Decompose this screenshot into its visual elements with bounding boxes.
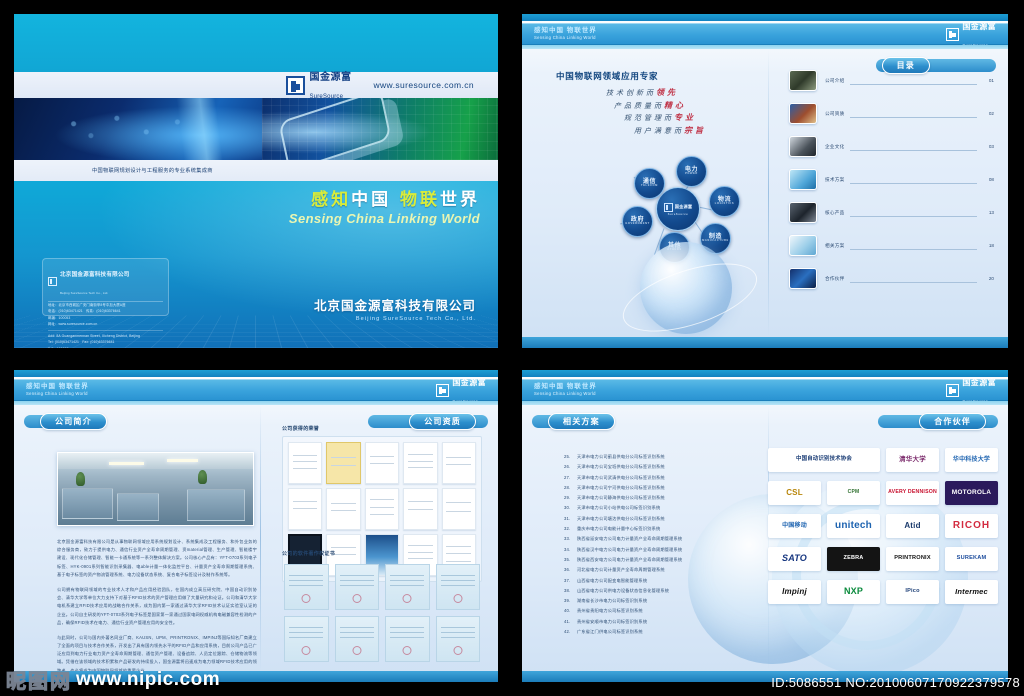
calligraphy-block: 技术创新而领先 产品质量而精心 规范管理而专业 用户满意而宗旨 [606, 86, 756, 136]
bubble-center-suresource[interactable]: 国金源富 SureSource [656, 187, 700, 231]
solution-text: 重庆市电力公司电能计量中心标签识别系统 [577, 526, 660, 531]
brand-name-cn: 国金源富 [309, 72, 351, 83]
contact-en-address-label: Add: [48, 334, 55, 338]
bubble-node-inner: 物流 LOGISTICS [715, 197, 734, 206]
bubble-label-en: LOGISTICS [715, 203, 734, 206]
copyright-cert-thumb[interactable] [436, 564, 481, 610]
solution-item: 31.天津市电力公司塘沽供电分公司标签识别系统 [564, 514, 769, 524]
certificate-thumb[interactable] [442, 488, 476, 530]
tab-company-profile[interactable]: 公司简介 [40, 413, 107, 430]
header-slogan-cn: 感知中国 物联世界 [534, 384, 597, 391]
contents-leader-line [850, 117, 977, 118]
bubble-node-inner: 电力 POWER [685, 167, 698, 176]
partner-logo-china-mobile: 中国移动 [768, 514, 821, 538]
brochure-page-partners: 感知中国 物联世界 Sensing China Linking World 国金… [522, 370, 1008, 682]
suresource-logo-icon [664, 203, 673, 212]
contents-thumbnail [789, 169, 817, 190]
solution-number: 28. [564, 483, 577, 493]
partner-logo-surekam: SUREKAM [945, 547, 998, 571]
solution-number: 26. [564, 462, 577, 472]
bubble-label-en: TELECOM [641, 185, 658, 188]
contact-tel-label: 电话： [48, 309, 58, 313]
header-slogan-en: Sensing China Linking World [534, 392, 597, 396]
contact-divider [48, 330, 163, 331]
page-header-bar: 感知中国 物联世界 Sensing China Linking World 国金… [14, 379, 498, 401]
page-header-underline [14, 401, 498, 405]
cover-subtitle: 中国物联网规划设计与工程服务的专业系统集成商 [92, 167, 213, 174]
certificate-thumb[interactable] [288, 442, 322, 484]
certificate-thumb[interactable] [326, 488, 360, 530]
solution-text: 陕西省延安电力公司电力计量资产全寿命周期管理系统 [577, 536, 682, 541]
contents-leader-line [850, 84, 977, 85]
solution-item: 35.陕西省西安电力公司电力计量资产全寿命周期管理系统 [564, 555, 769, 565]
header-brand-cn: 国金源富 [962, 378, 996, 387]
solution-number: 31. [564, 514, 577, 524]
copyright-cert-thumb[interactable] [284, 616, 329, 662]
copyright-cert-thumb[interactable] [436, 616, 481, 662]
bubble-label-en: MANUFACTURE [702, 240, 729, 243]
contact-fax-value: (010)63376641 [96, 309, 120, 313]
bubble-node-inner: 通信 TELECOM [641, 179, 658, 188]
solution-text: 天津市电力公司静海供电分公司标签识别系统 [577, 495, 665, 500]
solution-number: 29. [564, 493, 577, 503]
contact-en-zip-line: P.C.: 100053 [48, 346, 163, 348]
globe-graphic [640, 242, 732, 334]
contents-page-number: 01 [982, 78, 994, 83]
contents-leader-line [850, 282, 977, 283]
contact-zip-label: 邮编： [48, 316, 58, 320]
brand-website: www.suresource.com.cn [373, 80, 474, 90]
software-copyright-grid [282, 560, 482, 666]
contents-leader-line [850, 249, 977, 250]
page-spine-divider [260, 405, 261, 671]
solution-text: 广东省江门供电公司标签识别系统 [577, 629, 643, 634]
partner-logo-csl: CSL [768, 481, 821, 505]
contents-entry-label: 合作伙伴 [825, 276, 845, 282]
certificate-thumb[interactable] [365, 488, 399, 530]
cover-image-strip [14, 98, 498, 160]
software-copyright-caption: 公司的软件著作权证书 [282, 550, 482, 557]
partner-logo-nxp: NXP [827, 580, 880, 604]
partner-logo-ipico: IPico [886, 580, 939, 604]
contents-entry[interactable]: 公司资质 02 [789, 97, 994, 130]
solution-number: 33. [564, 534, 577, 544]
header-brand-cn: 国金源富 [452, 378, 486, 387]
contact-tel-value: (010)63471421 [58, 309, 82, 313]
bubble-node-telecom[interactable]: 通信 TELECOM [634, 168, 665, 199]
company-name-en: Beijing SureSource Tech Co., Ltd. [314, 316, 476, 322]
suresource-logo-icon [286, 76, 305, 95]
contents-thumbnail [789, 268, 817, 289]
solution-number: 37. [564, 576, 577, 586]
solution-text: 贵州省贵阳电力公司标签识别系统 [577, 608, 643, 613]
photo-cubicle [62, 488, 113, 520]
header-slogan: 感知中国 物联世界 Sensing China Linking World [534, 384, 597, 396]
copyright-cert-thumb[interactable] [335, 616, 380, 662]
photo-plant [76, 472, 85, 486]
contents-page-number: 08 [982, 177, 994, 182]
page-header-underline [522, 45, 1008, 49]
page-spine-divider [768, 49, 769, 337]
bubble-node-inner: 制造 MANUFACTURE [702, 234, 729, 243]
photo-lamp [167, 459, 198, 462]
profile-paragraph: 北京国金源富科技有限公司是从事物联网领域应用系统规划设计、系统集成及工程服务、和… [57, 538, 257, 579]
solution-item: 42.广东省江门供电公司标签识别系统 [564, 627, 769, 637]
partner-logo-huazhong: 华中科技大学 [945, 448, 998, 472]
contents-page-number: 03 [982, 144, 994, 149]
slogan-cn-mark2: 世界 [440, 190, 480, 210]
partner-logo-unitech: unitech [827, 514, 880, 538]
solution-text: 天津市电力公司宁河供电分公司标签识别系统 [577, 485, 665, 490]
cover-artboard: 国金源富 SureSource www.suresource.com.cn 中国… [14, 14, 498, 348]
calligraphy-line: 用户满意而宗旨 [634, 124, 756, 137]
solution-number: 30. [564, 503, 577, 513]
photo-lamp [109, 462, 144, 465]
calligraphy-accent: 宗旨 [684, 125, 706, 135]
bubble-node-power[interactable]: 电力 POWER [676, 156, 707, 187]
contact-company-en: Beijing SureSource Tech Co., Ltd. [60, 291, 108, 295]
contents-entry[interactable]: 合作伙伴 20 [789, 262, 994, 295]
solution-number: 42. [564, 627, 577, 637]
partner-logo-ricoh: RICOH [945, 514, 998, 538]
solution-number: 27. [564, 473, 577, 483]
calligraphy-accent: 精心 [664, 100, 686, 110]
solution-text: 陕西省汉中电力公司电力计量资产全寿命周期管理系统 [577, 547, 682, 552]
page-header-bar: 感知中国 物联世界 Sensing China Linking World 国金… [522, 379, 1008, 401]
contact-fax-label: 传真： [86, 309, 96, 313]
solution-number: 34. [564, 545, 577, 555]
bubble-center-row: 国金源富 [664, 203, 693, 212]
world-map-network-image [14, 98, 262, 160]
contents-entry[interactable]: 相关方案 18 [789, 229, 994, 262]
slogan-cn-part2: 物联 [400, 190, 440, 210]
screenshot-canvas: 国金源富 SureSource www.suresource.com.cn 中国… [0, 0, 1024, 696]
solution-item: 40.贵州省贵阳电力公司标签识别系统 [564, 606, 769, 616]
solution-number: 39. [564, 596, 577, 606]
photo-ceiling [58, 453, 253, 469]
header-slogan: 感知中国 物联世界 Sensing China Linking World [26, 384, 89, 396]
certificate-thumb[interactable] [442, 442, 476, 484]
contents-headline: 中国物联网领域应用专家 [556, 70, 658, 82]
calligraphy-plain: 技术创新而 [606, 89, 656, 97]
nipic-watermark-url: www.nipic.com [76, 669, 220, 691]
nipic-watermark: 昵图网 www.nipic.com [6, 665, 220, 694]
partner-logo-avery-dennison: AVERY DENNISON [886, 481, 939, 505]
solution-number: 41. [564, 617, 577, 627]
contents-entry[interactable]: 公司介绍 01 [789, 64, 994, 97]
contact-en-zip-value: 100053 [57, 347, 69, 348]
header-slogan-cn: 感知中国 物联世界 [534, 28, 597, 35]
contents-leader-line [850, 216, 977, 217]
certificate-thumb[interactable] [288, 488, 322, 530]
solution-number: 36. [564, 565, 577, 575]
copyright-cert-thumb[interactable] [335, 564, 380, 610]
contents-entry-label: 核心产品 [825, 210, 845, 216]
solution-text: 湖南省长沙市电力公司标签识别系统 [577, 598, 647, 603]
copyright-cert-thumb[interactable] [385, 564, 430, 610]
contents-list: 公司介绍 01 公司资质 02 企业文化 03 [789, 64, 994, 295]
contact-en-tel-value: (010)63471421 [55, 340, 79, 344]
suresource-logo-icon [48, 277, 57, 286]
contents-thumbnail [789, 235, 817, 256]
suresource-logo-icon [946, 384, 959, 397]
header-brand-cn: 国金源富 [962, 22, 996, 31]
solution-text: 山西省电力公司配变电智能管理系统 [577, 578, 647, 583]
cover-top-band [14, 14, 498, 72]
page-header-bar: 感知中国 物联世界 Sensing China Linking World 国金… [522, 23, 1008, 45]
suresource-logo-icon [946, 28, 959, 41]
brochure-page-cover: 国金源富 SureSource www.suresource.com.cn 中国… [14, 14, 498, 348]
solution-item: 41.贵州省安顺市电力公司标签识别系统 [564, 617, 769, 627]
tab-partners[interactable]: 合作伙伴 [919, 413, 986, 430]
contact-en-fax-value: (010)63376641 [90, 340, 114, 344]
slogan-cn-mark1: 中国 [351, 190, 391, 210]
partner-logo-atid: Atid [886, 514, 939, 538]
cover-company-block: 北京国金源富科技有限公司 Beijing SureSource Tech Co.… [314, 295, 476, 322]
solution-text: 天津市电力公司小站供电公司标签识别系统 [577, 505, 660, 510]
page-top-rule [14, 370, 498, 377]
solution-text: 天津市电力公司塘沽供电分公司标签识别系统 [577, 516, 665, 521]
contents-entry[interactable]: 技术方案 08 [789, 163, 994, 196]
calligraphy-line: 技术创新而领先 [606, 86, 756, 99]
solution-item: 36.河北省电力公司计量资产全寿命周期管理系统 [564, 565, 769, 575]
contents-thumbnail [789, 70, 817, 91]
partner-logo-motorola: MOTOROLA [945, 481, 998, 505]
solution-text: 山西省电力公司供电力设备状态信息化管理系统 [577, 588, 669, 593]
suresource-logo-icon [436, 384, 449, 397]
partner-logo-tsinghua: 清华大学 [886, 448, 939, 472]
partner-logo-assoc: 中国自动识别技术协会 [768, 448, 880, 472]
profile-artboard: 感知中国 物联世界 Sensing China Linking World 国金… [14, 370, 498, 682]
cover-subtitle-bar: 中国物联网规划设计与工程服务的专业系统集成商 [14, 160, 498, 181]
calligraphy-plain: 规范管理而 [624, 114, 674, 122]
calligraphy-plain: 产品质量而 [614, 102, 664, 110]
contents-leader-line [850, 183, 977, 184]
nipic-watermark-cn: 昵图网 [6, 665, 72, 694]
solution-number: 40. [564, 606, 577, 616]
solution-item: 38.山西省电力公司供电力设备状态信息化管理系统 [564, 586, 769, 596]
solution-text: 天津市电力公司武清供电分公司标签识别系统 [577, 475, 665, 480]
contact-web-line: 网址：www.suresource.com.cn [48, 321, 163, 327]
solution-item: 32.重庆市电力公司电能计量中心标签识别系统 [564, 524, 769, 534]
contact-en-fax-label: Fax: [82, 340, 89, 344]
partner-logo-sato: SATO [768, 547, 821, 571]
contents-page-number: 18 [982, 243, 994, 248]
brochure-page-contents: 感知中国 物联世界 Sensing China Linking World 国金… [522, 14, 1008, 348]
solution-item: 29.天津市电力公司静海供电分公司标签识别系统 [564, 493, 769, 503]
copyright-cert-thumb[interactable] [284, 564, 329, 610]
partner-logo-cpm: CPM [827, 481, 880, 505]
contact-en-tel-label: Tel: [48, 340, 54, 344]
bubble-center-cn: 国金源富 [675, 204, 693, 210]
bubble-label-en: GOVERNMENT [625, 223, 650, 226]
cover-slogan-cn: 感知中国 物联世界 [289, 191, 480, 210]
contents-page-number: 20 [982, 276, 994, 281]
calligraphy-accent: 专业 [674, 112, 696, 122]
image-id-watermark: ID:5086551 NO:20100607170922379578 [771, 675, 1020, 690]
header-slogan-en: Sensing China Linking World [534, 36, 597, 40]
certificate-thumb[interactable] [403, 488, 437, 530]
contents-entry[interactable]: 企业文化 03 [789, 130, 994, 163]
partners-artboard: 感知中国 物联世界 Sensing China Linking World 国金… [522, 370, 1008, 682]
contents-entry-label: 公司介绍 [825, 78, 845, 84]
header-slogan: 感知中国 物联世界 Sensing China Linking World [534, 28, 597, 40]
contents-thumbnail [789, 136, 817, 157]
cover-logo-bar: 国金源富 SureSource www.suresource.com.cn [14, 72, 498, 98]
page-footer-bar [522, 337, 1008, 348]
solution-item: 25.天津市电力公司蓟县供电分公司标签识别系统 [564, 452, 769, 462]
calligraphy-plain: 用户满意而 [634, 127, 684, 135]
contact-web-value: www.suresource.com.cn [58, 322, 97, 326]
software-copyright-section: 公司的软件著作权证书 [282, 550, 482, 666]
bubble-label-en: POWER [685, 173, 698, 176]
contents-page-number: 13 [982, 210, 994, 215]
calligraphy-accent: 领先 [656, 87, 678, 97]
page-top-rule [522, 14, 1008, 21]
cover-body: 感知中国 物联世界 Sensing China Linking World 北京… [14, 181, 498, 348]
contents-entry-label: 技术方案 [825, 177, 845, 183]
partner-logo-intermec: Intermec [945, 580, 998, 604]
partner-logo-impinj: Impinj [768, 580, 821, 604]
header-slogan-cn: 感知中国 物联世界 [26, 384, 89, 391]
copyright-cert-thumb[interactable] [385, 616, 430, 662]
contact-web-label: 网址： [48, 322, 58, 326]
company-name-cn: 北京国金源富科技有限公司 [314, 295, 476, 314]
contact-company-cn: 北京国金源富科技有限公司 [60, 272, 130, 278]
solution-text: 河北省电力公司计量资产全寿命周期管理系统 [577, 567, 665, 572]
contents-artboard: 感知中国 物联世界 Sensing China Linking World 国金… [522, 14, 1008, 348]
bubble-node-logistics[interactable]: 物流 LOGISTICS [709, 186, 740, 217]
contents-page-number: 02 [982, 111, 994, 116]
solution-item: 33.陕西省延安电力公司电力计量资产全寿命周期管理系统 [564, 534, 769, 544]
related-solutions-list: 25.天津市电力公司蓟县供电分公司标签识别系统 26.天津市电力公司宝坻供电分公… [564, 452, 769, 637]
solution-text: 天津市电力公司蓟县供电分公司标签识别系统 [577, 454, 665, 459]
tab-related-solutions[interactable]: 相关方案 [548, 413, 615, 430]
contents-thumbnail [789, 103, 817, 124]
solution-number: 32. [564, 524, 577, 534]
solution-number: 35. [564, 555, 577, 565]
solution-item: 28.天津市电力公司宁河供电分公司标签识别系统 [564, 483, 769, 493]
partner-logo-printronix: PRINTRONIX [886, 547, 939, 571]
page-header-underline [522, 401, 1008, 405]
contact-en-zip-label: P.C.: [48, 347, 56, 348]
calligraphy-line: 产品质量而精心 [614, 99, 756, 112]
contact-address-value: 北京市西城区广安门南街甲8号中加大厦A座 [58, 303, 125, 307]
profile-paragraph: 公司拥有物联网领域的专业技术人才和产品应用经验团队，在国内成立高压研究院、中国自… [57, 586, 257, 627]
solution-text: 陕西省西安电力公司电力计量资产全寿命周期管理系统 [577, 557, 682, 562]
solution-item: 27.天津市电力公司武清供电分公司标签识别系统 [564, 473, 769, 483]
photo-cubicle [187, 489, 246, 521]
contents-entry-label: 企业文化 [825, 144, 845, 150]
solution-text: 天津市电力公司宝坻供电分公司标签识别系统 [577, 464, 665, 469]
slogan-cn-part1: 感知 [311, 190, 351, 210]
contents-entry-label: 相关方案 [825, 243, 845, 249]
company-profile-text: 北京国金源富科技有限公司是从事物联网领域应用系统规划设计、系统集成及工程服务、和… [57, 538, 257, 682]
contents-entry-label: 公司资质 [825, 111, 845, 117]
solution-item: 34.陕西省汉中电力公司电力计量资产全寿命周期管理系统 [564, 545, 769, 555]
contents-thumbnail [789, 202, 817, 223]
cover-slogan: 感知中国 物联世界 Sensing China Linking World [289, 191, 480, 226]
contents-entry[interactable]: 核心产品 13 [789, 196, 994, 229]
solution-number: 25. [564, 452, 577, 462]
contact-card-logo: 北京国金源富科技有限公司 Beijing SureSource Tech Co.… [48, 263, 163, 302]
certificate-thumb[interactable] [326, 442, 360, 484]
bubble-node-inner: 政府 GOVERNMENT [625, 217, 650, 226]
cover-contact-card: 北京国金源富科技有限公司 Beijing SureSource Tech Co.… [42, 258, 169, 316]
cover-slogan-en: Sensing China Linking World [289, 211, 480, 226]
certificate-thumb[interactable] [365, 442, 399, 484]
calligraphy-line: 规范管理而专业 [624, 111, 756, 124]
certificate-thumb[interactable] [403, 442, 437, 484]
bubble-center-en: SureSource [668, 213, 689, 216]
contact-zip-value: 100053 [58, 316, 70, 320]
solution-item: 26.天津市电力公司宝坻供电分公司标签识别系统 [564, 462, 769, 472]
photo-cubicle [117, 493, 160, 520]
partner-logo-zebra: ZEBRA [827, 547, 880, 571]
solution-item: 30.天津市电力公司小站供电公司标签识别系统 [564, 503, 769, 513]
rfid-device-image [262, 98, 498, 160]
brochure-page-profile: 感知中国 物联世界 Sensing China Linking World 国金… [14, 370, 498, 682]
header-slogan-en: Sensing China Linking World [26, 392, 89, 396]
solution-text: 贵州省安顺市电力公司标签识别系统 [577, 619, 647, 624]
solution-item: 39.湖南省长沙市电力公司标签识别系统 [564, 596, 769, 606]
contact-address-label: 地址： [48, 303, 58, 307]
partner-logo-grid: 中国自动识别技术协会 清华大学 华中科技大学 CSL CPM AVERY DEN… [768, 448, 998, 604]
page-top-rule [522, 370, 1008, 377]
bubble-node-government[interactable]: 政府 GOVERNMENT [622, 206, 653, 237]
photo-plant [198, 470, 207, 484]
honors-caption: 公司获得的荣誉 [282, 425, 482, 432]
solution-item: 37.山西省电力公司配变电智能管理系统 [564, 576, 769, 586]
contact-en-address-value: 8A Guanganmennan Street, Xicheng Distric… [56, 334, 140, 338]
contents-leader-line [850, 150, 977, 151]
solution-number: 38. [564, 586, 577, 596]
office-photo [57, 452, 254, 526]
